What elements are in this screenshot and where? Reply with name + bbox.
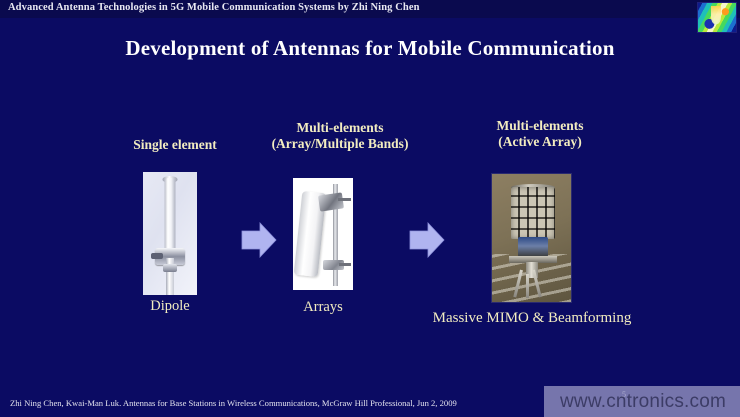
stage-label-line1: Multi-elements xyxy=(497,118,584,133)
dipole-antenna-photo xyxy=(143,172,197,295)
stage-label-line1: Multi-elements xyxy=(297,120,384,135)
page-title: Development of Antennas for Mobile Commu… xyxy=(0,36,740,61)
stage-caption-arrays: Arrays xyxy=(243,299,403,316)
stage-label-multi-elements-active: Multi-elements (Active Array) xyxy=(435,118,645,150)
active-electronics-unit xyxy=(518,237,548,257)
cylindrical-element-array xyxy=(511,187,555,239)
field-pattern-logo-icon xyxy=(697,2,737,33)
stage-label-line1: Single element xyxy=(133,137,217,152)
right-arrow-icon-2 xyxy=(408,220,446,260)
stage-label-line2: (Active Array) xyxy=(435,134,645,150)
header-title: Advanced Antenna Technologies in 5G Mobi… xyxy=(8,2,420,13)
upper-tilt-arm xyxy=(338,198,351,201)
stage-label-multi-elements-array: Multi-elements (Array/Multiple Bands) xyxy=(225,120,455,152)
citation-footer: Zhi Ning Chen, Kwai-Man Luk. Antennas fo… xyxy=(10,398,457,408)
stage-caption-dipole: Dipole xyxy=(90,298,250,315)
panel-array-antenna-photo xyxy=(293,178,353,290)
presentation-slide: Advanced Antenna Technologies in 5G Mobi… xyxy=(0,0,740,417)
upper-mounting-clamp xyxy=(318,192,344,211)
dipole-clamp-nut xyxy=(163,264,177,272)
tripod-leg xyxy=(526,274,529,298)
stage-label-line2: (Array/Multiple Bands) xyxy=(225,136,455,152)
massive-mimo-antenna-photo xyxy=(491,173,572,303)
right-arrow-icon-1 xyxy=(240,220,278,260)
lower-tilt-arm xyxy=(339,263,351,266)
watermark-text: www.cntronics.com xyxy=(560,391,726,413)
stage-caption-massive-mimo: Massive MIMO & Beamforming xyxy=(392,310,672,327)
dipole-radome xyxy=(165,178,176,253)
